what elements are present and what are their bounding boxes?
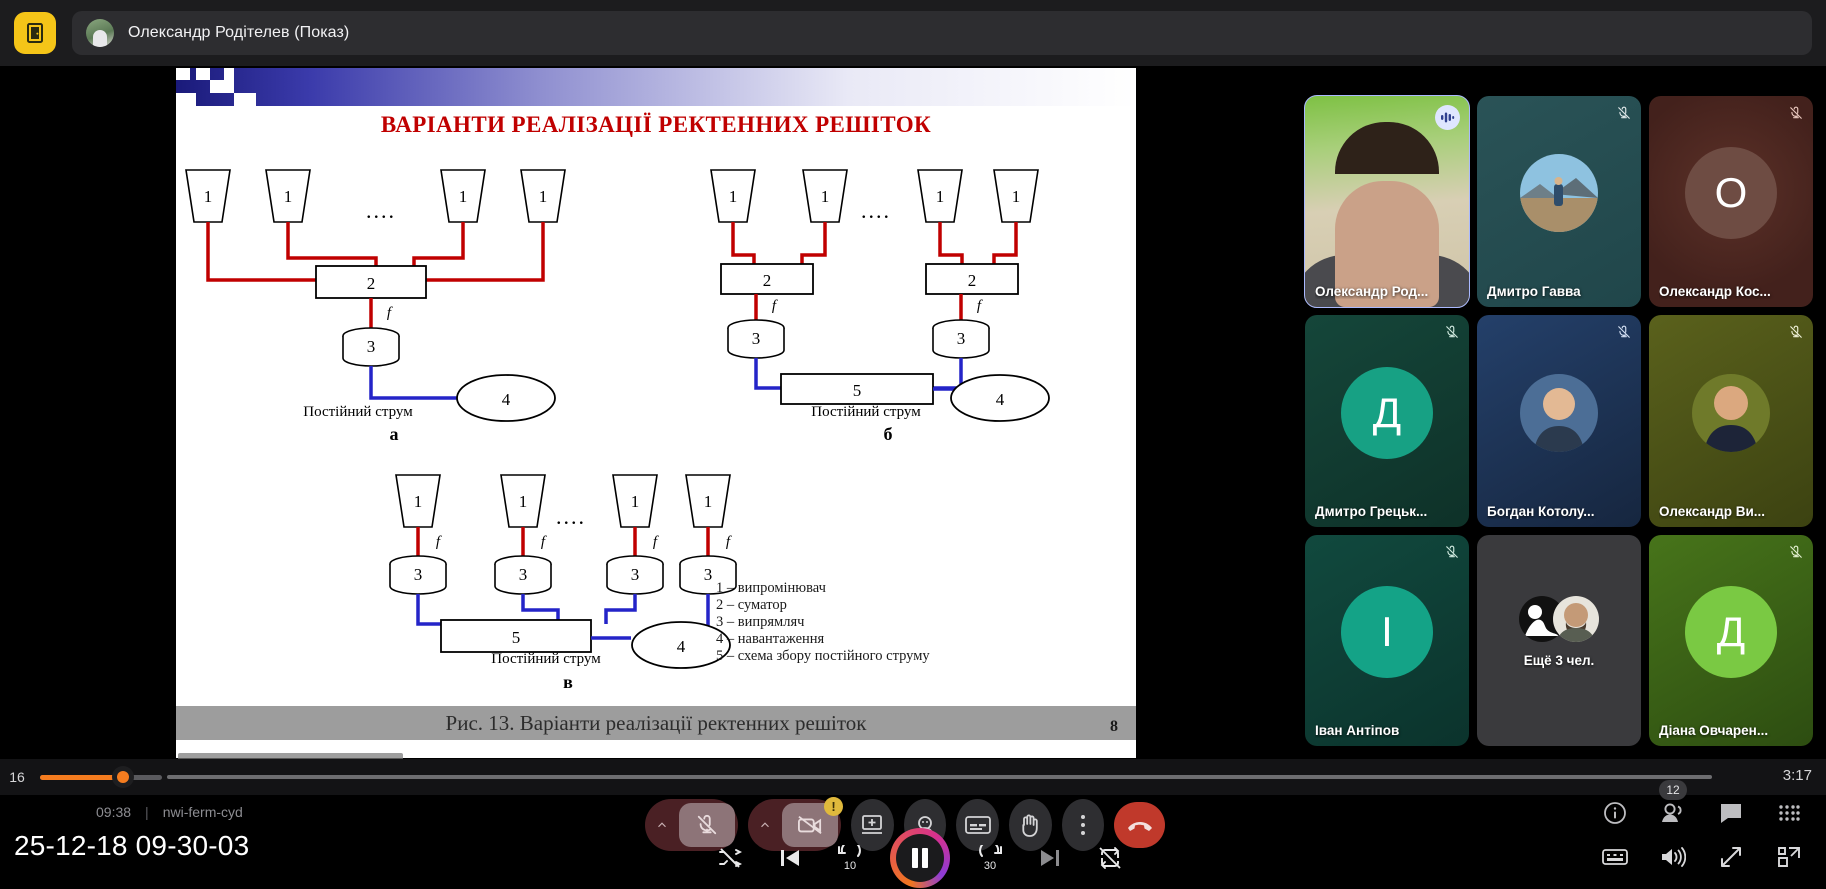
shared-screen-stage[interactable]: ВАРІАНТИ РЕАЛІЗАЦІЇ РЕКТЕННИХ РЕШІТОК 1 bbox=[18, 66, 1294, 759]
player-scrubber-row: 16 3:17 bbox=[0, 759, 1826, 795]
svg-text:1: 1 bbox=[284, 187, 293, 206]
participant-tile[interactable]: І Іван Антіпов bbox=[1305, 535, 1469, 746]
participant-name: Олександр Род... bbox=[1315, 284, 1459, 299]
slide-page-number: 8 bbox=[1110, 718, 1118, 736]
participant-tile[interactable]: Д Дмитро Грецьк... bbox=[1305, 315, 1469, 526]
presenter-pill[interactable]: Олександр Родітелев (Показ) bbox=[72, 11, 1812, 55]
right-controls: 12 bbox=[1578, 800, 1808, 880]
chevron-up-icon[interactable] bbox=[645, 818, 679, 832]
svg-text:f: f bbox=[977, 298, 983, 314]
participant-name: Богдан Котолу... bbox=[1487, 504, 1631, 519]
legend-item: 3 – випрямляч bbox=[716, 614, 930, 631]
presenter-name: Олександр Родітелев (Показ) bbox=[128, 24, 349, 42]
svg-text:2: 2 bbox=[367, 274, 376, 293]
mic-off-icon bbox=[1615, 104, 1633, 122]
legend-item: 1 – випромінювач bbox=[716, 580, 930, 597]
volume-level-label: 16 bbox=[0, 769, 34, 785]
svg-text:f: f bbox=[726, 534, 732, 550]
participant-tile[interactable]: Олександр Ви... bbox=[1649, 315, 1813, 526]
svg-text:1: 1 bbox=[821, 187, 830, 206]
svg-text:1: 1 bbox=[519, 492, 528, 511]
overflow-avatars bbox=[1519, 596, 1599, 642]
svg-text:Постійний струм: Постійний струм bbox=[811, 404, 921, 420]
participant-tile[interactable]: Олександр Род... bbox=[1305, 96, 1469, 307]
skip-previous-icon[interactable] bbox=[770, 838, 810, 878]
svg-text:б: б bbox=[884, 424, 893, 444]
avatar bbox=[1520, 154, 1598, 232]
svg-text:f: f bbox=[772, 298, 778, 314]
participant-name: Діана Овчарен... bbox=[1659, 723, 1803, 738]
svg-text:1: 1 bbox=[729, 187, 738, 206]
repeat-off-icon[interactable] bbox=[1090, 838, 1130, 878]
mic-off-icon bbox=[1787, 323, 1805, 341]
avatar bbox=[1553, 596, 1599, 642]
presentation-slide: ВАРІАНТИ РЕАЛІЗАЦІЇ РЕКТЕННИХ РЕШІТОК 1 bbox=[176, 68, 1136, 758]
svg-text:3: 3 bbox=[704, 565, 713, 584]
slide-diagram: 1 1 1 1 .... 2 bbox=[176, 140, 1136, 720]
svg-text:1: 1 bbox=[204, 187, 213, 206]
svg-text:1: 1 bbox=[539, 187, 548, 206]
time-remaining: 3:17 bbox=[1783, 767, 1812, 784]
avatar-initial: І bbox=[1341, 586, 1433, 678]
participant-tile[interactable]: Дмитро Гавва bbox=[1477, 96, 1641, 307]
svg-text:Постійний струм: Постійний струм bbox=[303, 404, 413, 420]
keyboard-icon[interactable] bbox=[1602, 844, 1628, 870]
participant-name: Дмитро Гавва bbox=[1487, 284, 1631, 299]
slide-decor-band bbox=[176, 68, 1136, 106]
expand-arrows-icon[interactable] bbox=[1718, 844, 1744, 870]
volume-slider[interactable] bbox=[40, 775, 162, 780]
svg-text:Постійний струм: Постійний струм bbox=[491, 651, 601, 667]
svg-text:f: f bbox=[387, 305, 393, 321]
avatar-initial: О bbox=[1685, 147, 1777, 239]
svg-text:1: 1 bbox=[1012, 187, 1021, 206]
participant-overflow-tile[interactable]: Ещё 3 чел. bbox=[1477, 535, 1641, 746]
recording-time: 09:38 bbox=[96, 804, 131, 820]
recording-filename: 25-12-18 09-30-03 bbox=[14, 830, 249, 862]
room-id: nwi-ferm-cyd bbox=[163, 804, 243, 820]
svg-text:1: 1 bbox=[936, 187, 945, 206]
avatar-icon bbox=[86, 19, 114, 47]
participant-name: Іван Антіпов bbox=[1315, 723, 1459, 738]
participant-tile[interactable]: О Олександр Кос... bbox=[1649, 96, 1813, 307]
svg-text:....: .... bbox=[366, 198, 396, 223]
chat-bubble-icon[interactable] bbox=[1718, 800, 1744, 826]
svg-text:в: в bbox=[563, 672, 573, 692]
svg-text:а: а bbox=[390, 424, 399, 444]
svg-text:1: 1 bbox=[631, 492, 640, 511]
svg-text:3: 3 bbox=[957, 329, 966, 348]
svg-text:10: 10 bbox=[844, 860, 856, 871]
layout-swap-icon[interactable] bbox=[1776, 844, 1802, 870]
pause-icon bbox=[896, 834, 944, 882]
participant-name: Олександр Кос... bbox=[1659, 284, 1803, 299]
svg-text:1: 1 bbox=[459, 187, 468, 206]
svg-text:30: 30 bbox=[984, 860, 996, 871]
svg-text:2: 2 bbox=[968, 271, 977, 290]
speaker-wave-icon[interactable] bbox=[1660, 844, 1686, 870]
seek-slider[interactable] bbox=[167, 775, 1712, 779]
speaking-indicator-icon bbox=[1435, 105, 1460, 130]
warning-badge: ! bbox=[824, 797, 843, 816]
overflow-label: Ещё 3 чел. bbox=[1477, 653, 1641, 668]
svg-text:....: .... bbox=[861, 198, 891, 223]
participant-tile[interactable]: Богдан Котолу... bbox=[1477, 315, 1641, 526]
svg-text:5: 5 bbox=[853, 381, 862, 400]
volume-knob[interactable] bbox=[112, 766, 134, 788]
door-exit-icon[interactable] bbox=[14, 12, 56, 54]
svg-text:5: 5 bbox=[512, 628, 521, 647]
media-transport-bar: 10 30 bbox=[710, 830, 1130, 886]
replay-10-icon[interactable]: 10 bbox=[830, 838, 870, 878]
svg-text:f: f bbox=[653, 534, 659, 550]
mic-off-icon bbox=[1443, 543, 1461, 561]
svg-text:f: f bbox=[436, 534, 442, 550]
mic-off-icon bbox=[1615, 323, 1633, 341]
slide-caption: Рис. 13. Варіанти реалізації ректенних р… bbox=[176, 711, 1136, 736]
mic-off-icon bbox=[1443, 323, 1461, 341]
avatar bbox=[1520, 374, 1598, 452]
participants-button[interactable]: 12 bbox=[1660, 800, 1686, 826]
svg-text:4: 4 bbox=[502, 390, 511, 409]
participant-tile[interactable]: Д Діана Овчарен... bbox=[1649, 535, 1813, 746]
svg-text:3: 3 bbox=[631, 565, 640, 584]
svg-text:2: 2 bbox=[763, 271, 772, 290]
svg-text:....: .... bbox=[556, 504, 586, 529]
participant-name: Олександр Ви... bbox=[1659, 504, 1803, 519]
svg-text:1: 1 bbox=[704, 492, 713, 511]
legend-item: 2 – суматор bbox=[716, 597, 930, 614]
svg-text:4: 4 bbox=[677, 637, 686, 656]
diagram-legend: 1 – випромінювач 2 – суматор 3 – випрямл… bbox=[716, 580, 930, 666]
skip-next-icon[interactable] bbox=[1030, 838, 1070, 878]
participant-name: Дмитро Грецьк... bbox=[1315, 504, 1459, 519]
mic-off-icon bbox=[1787, 104, 1805, 122]
participants-count-badge: 12 bbox=[1659, 780, 1687, 800]
mic-off-icon bbox=[1787, 543, 1805, 561]
avatar-initial: Д bbox=[1341, 367, 1433, 459]
avatar bbox=[1692, 374, 1770, 452]
avatar-initial: Д bbox=[1685, 586, 1777, 678]
svg-text:3: 3 bbox=[752, 329, 761, 348]
forward-30-icon[interactable]: 30 bbox=[970, 838, 1010, 878]
pause-button[interactable] bbox=[890, 828, 950, 888]
legend-item: 5 – схема збору постійного струму bbox=[716, 648, 930, 665]
slide-title: ВАРІАНТИ РЕАЛІЗАЦІЇ РЕКТЕННИХ РЕШІТОК bbox=[176, 112, 1136, 138]
participant-grid: Олександр Род... Дмитро Гавва О Олександ… bbox=[1305, 96, 1813, 746]
shuffle-off-icon[interactable] bbox=[710, 838, 750, 878]
svg-text:1: 1 bbox=[414, 492, 423, 511]
top-bar: Олександр Родітелев (Показ) bbox=[0, 0, 1826, 66]
meta-separator: | bbox=[145, 804, 149, 820]
info-circle-icon[interactable] bbox=[1602, 800, 1628, 826]
svg-text:3: 3 bbox=[519, 565, 528, 584]
legend-item: 4 – навантаження bbox=[716, 631, 930, 648]
svg-text:3: 3 bbox=[367, 337, 376, 356]
grid-dots-icon[interactable] bbox=[1776, 800, 1802, 826]
svg-text:f: f bbox=[541, 534, 547, 550]
svg-text:4: 4 bbox=[996, 390, 1005, 409]
svg-text:3: 3 bbox=[414, 565, 423, 584]
